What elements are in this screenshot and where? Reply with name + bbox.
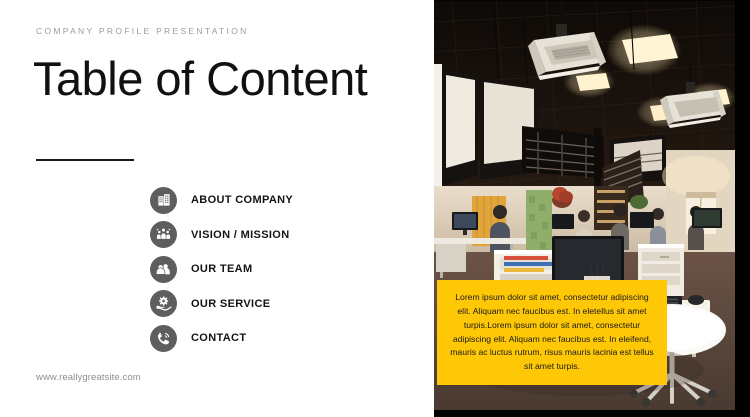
- menu-item-our-service[interactable]: OUR SERVICE: [150, 290, 293, 318]
- bottom-black-band: [434, 410, 750, 417]
- gear-in-hand-icon: [150, 290, 177, 317]
- menu-item-our-team[interactable]: OUR TEAM: [150, 255, 293, 283]
- page-title: Table of Content: [33, 54, 367, 103]
- title-divider-rule: [36, 159, 134, 161]
- presentation-slide: COMPANY PROFILE PRESENTATION Table of Co…: [0, 0, 750, 417]
- menu-item-contact[interactable]: CONTACT: [150, 324, 293, 352]
- menu-item-vision-mission[interactable]: VISION / MISSION: [150, 221, 293, 249]
- menu-item-label: OUR SERVICE: [191, 298, 270, 310]
- callout-body-text: Lorem ipsum dolor sit amet, consectetur …: [449, 291, 655, 375]
- footer-website-url[interactable]: www.reallygreatsite.com: [36, 372, 141, 383]
- menu-item-label: VISION / MISSION: [191, 229, 290, 241]
- slide-eyebrow-label: COMPANY PROFILE PRESENTATION: [36, 26, 249, 36]
- menu-item-label: CONTACT: [191, 332, 246, 344]
- menu-item-label: OUR TEAM: [191, 263, 252, 275]
- right-black-band: [735, 0, 750, 417]
- two-users-icon: [150, 256, 177, 283]
- group-people-icon: [150, 221, 177, 248]
- table-of-content-menu: ABOUT COMPANY VISION / MIS: [150, 186, 293, 359]
- yellow-callout-box: Lorem ipsum dolor sit amet, consectetur …: [437, 280, 667, 385]
- menu-item-label: ABOUT COMPANY: [191, 194, 293, 206]
- photo-top-edge: [434, 0, 735, 1]
- menu-item-about-company[interactable]: ABOUT COMPANY: [150, 186, 293, 214]
- building-icon: [150, 187, 177, 214]
- phone-call-icon: [150, 325, 177, 352]
- left-content-panel: COMPANY PROFILE PRESENTATION Table of Co…: [0, 0, 434, 417]
